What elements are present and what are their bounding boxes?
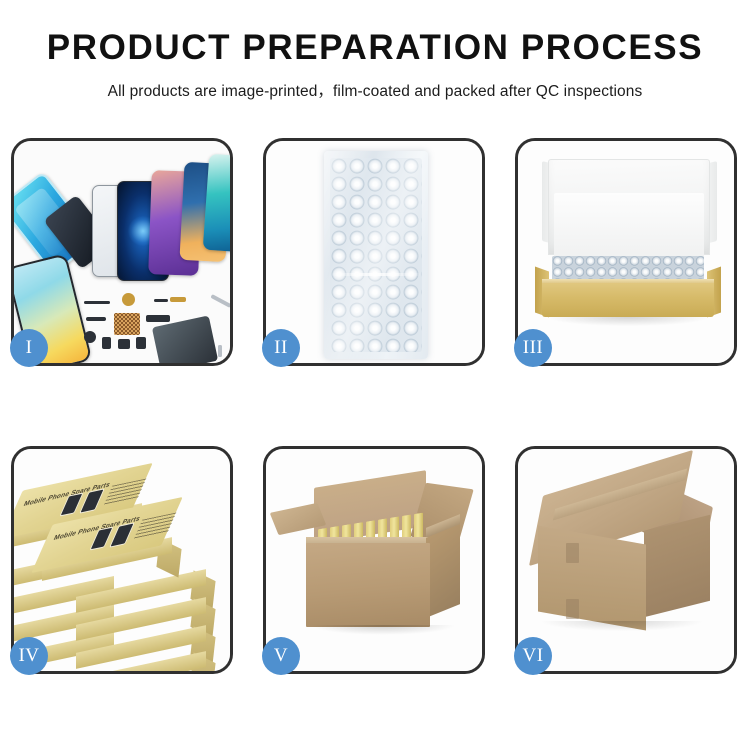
sealed-carton-front [538,525,646,630]
power-button-flex [154,299,168,302]
step-panel-i: I [11,138,233,366]
step-image-bubble-wrap [266,141,482,363]
header: PRODUCT PREPARATION PROCESS All products… [0,0,750,101]
box-front-kraft [542,283,714,317]
spare-parts-cluster [84,291,230,363]
box-shadow [548,317,708,326]
bubble-wrap-pouch [324,151,428,359]
sealed-carton-side [644,515,710,617]
bubble-film-sheen [324,151,428,359]
box-inner-lining [554,193,704,259]
screw-set [114,313,140,335]
charging-port-flex [146,315,170,322]
step-image-carton-filled [266,449,482,671]
screwdriver [218,345,222,357]
tweezers [210,294,230,308]
step-image-stacked-boxes: Mobile Phone Spare Parts Mobile Phone Sp… [14,449,230,671]
taptic-engine [136,337,146,349]
step-panel-iii: III [515,138,737,366]
step-badge-ii: II [262,329,300,367]
earpiece-mesh [84,301,110,304]
sim-tray [102,337,111,349]
step-badge-vi: VI [514,637,552,675]
loudspeaker [118,339,130,349]
carton-handle-tab-top [566,543,579,563]
step-image-carton-sealed [518,449,734,671]
vibration-motor [122,293,135,306]
carton-side-panel [426,524,460,618]
carton-front-panel [306,543,430,627]
page-subtitle: All products are image-printed，film-coat… [0,79,750,101]
carton-handle-tab-bottom [566,599,579,619]
product-preparation-infographic: PRODUCT PREPARATION PROCESS All products… [0,0,750,750]
step-badge-iv: IV [10,637,48,675]
step-panel-iv: Mobile Phone Spare Parts Mobile Phone Sp… [11,446,233,674]
step-panel-ii: II [263,138,485,366]
antenna-flex [86,317,106,321]
step-panel-v: V [263,446,485,674]
camera-lens [84,331,96,343]
step-panel-vi: VI [515,446,737,674]
step-badge-iii: III [514,329,552,367]
page-title: PRODUCT PREPARATION PROCESS [0,30,750,67]
sealed-carton-shadow [542,621,702,631]
step-image-inner-box [518,141,734,363]
carton-shadow [310,625,456,635]
steps-grid: I II [11,138,739,690]
step-badge-i: I [10,329,48,367]
phone-housing-open [152,315,218,363]
flex-connector [170,297,186,302]
step-image-parts [14,141,230,363]
step-badge-v: V [262,637,300,675]
